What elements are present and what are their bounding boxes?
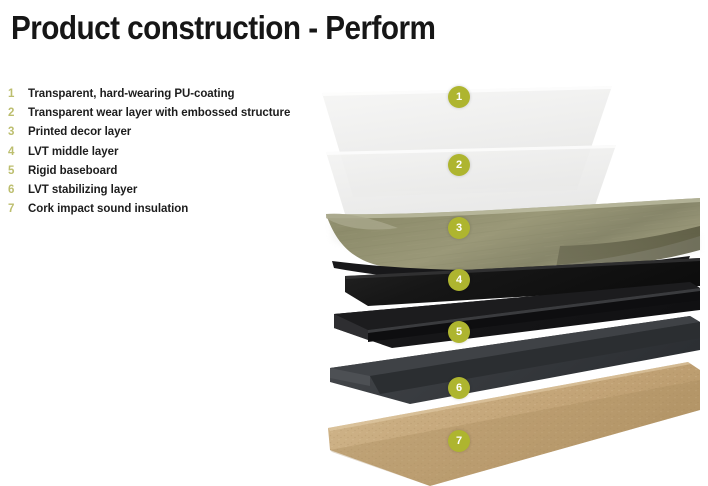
legend-item-4: 4 LVT middle layer [8, 146, 338, 165]
legend-label: Cork impact sound insulation [28, 203, 188, 215]
legend-item-3: 3 Printed decor layer [8, 126, 338, 145]
badge-label: 6 [456, 383, 462, 394]
legend-number: 3 [8, 126, 28, 138]
badge-label: 5 [456, 327, 462, 338]
legend-label: Printed decor layer [28, 126, 131, 138]
legend-label: Transparent, hard-wearing PU-coating [28, 88, 235, 100]
diagram-badge-5: 5 [448, 321, 470, 343]
diagram-badge-4: 4 [448, 269, 470, 291]
legend-item-6: 6 LVT stabilizing layer [8, 184, 338, 203]
legend-label: Rigid baseboard [28, 165, 117, 177]
badge-label: 1 [456, 92, 462, 103]
legend-item-7: 7 Cork impact sound insulation [8, 203, 338, 222]
diagram-badge-1: 1 [448, 86, 470, 108]
badge-label: 4 [456, 275, 462, 286]
legend-item-2: 2 Transparent wear layer with embossed s… [8, 107, 338, 126]
diagram-badge-2: 2 [448, 154, 470, 176]
legend-number: 7 [8, 203, 28, 215]
exploded-layer-illustration [0, 0, 708, 486]
legend-number: 2 [8, 107, 28, 119]
legend-number: 1 [8, 88, 28, 100]
legend-item-5: 5 Rigid baseboard [8, 165, 338, 184]
layer-legend-list: 1 Transparent, hard-wearing PU-coating 2… [8, 88, 338, 222]
diagram-badge-7: 7 [448, 430, 470, 452]
product-construction-infographic: Product construction - Perform [0, 0, 708, 486]
legend-label: LVT stabilizing layer [28, 184, 137, 196]
legend-label: Transparent wear layer with embossed str… [28, 107, 290, 119]
diagram-badge-6: 6 [448, 377, 470, 399]
legend-label: LVT middle layer [28, 146, 118, 158]
legend-number: 6 [8, 184, 28, 196]
badge-label: 7 [456, 436, 462, 447]
badge-label: 2 [456, 160, 462, 171]
legend-item-1: 1 Transparent, hard-wearing PU-coating [8, 88, 338, 107]
badge-label: 3 [456, 223, 462, 234]
legend-number: 5 [8, 165, 28, 177]
diagram-badge-3: 3 [448, 217, 470, 239]
legend-number: 4 [8, 146, 28, 158]
